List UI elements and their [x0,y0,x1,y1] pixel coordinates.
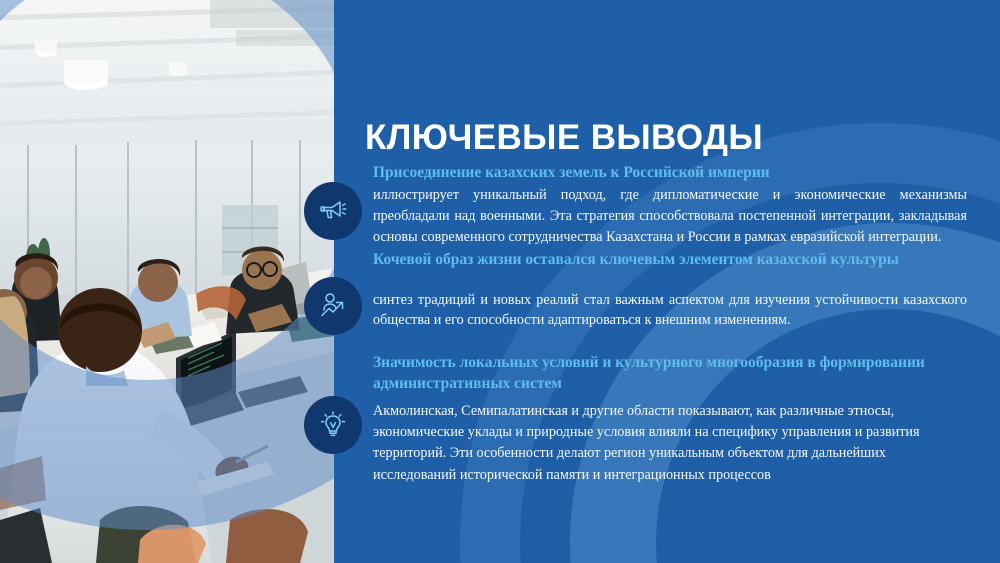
conclusion-block-1: Присоединение казахских земель к Российс… [373,163,967,248]
conclusion-body-2: синтез традиций и новых реалий стал важн… [373,290,967,332]
megaphone-icon [317,195,349,227]
meeting-photo [0,0,334,563]
conclusion-heading-1: Присоединение казахских земель к Российс… [373,163,967,183]
conclusion-heading-2: Кочевой образ жизни оставался ключевым э… [373,250,967,270]
growth-person-icon-badge [304,277,362,335]
conclusions-list: Присоединение казахских земель к Российс… [373,163,967,490]
conclusion-block-2: Кочевой образ жизни оставался ключевым э… [373,250,967,331]
lightbulb-icon [317,409,349,441]
page-title: КЛЮЧЕВЫЕ ВЫВОДЫ [365,120,763,157]
lightbulb-icon-badge [304,396,362,454]
conclusion-heading-3: Значимость локальных условий и культурно… [373,353,967,395]
photo-panel [0,0,334,563]
megaphone-icon-badge [304,182,362,240]
conclusion-block-3: Значимость локальных условий и культурно… [373,353,967,486]
conclusion-body-3: Акмолинская, Семипалатинская и другие об… [373,401,967,486]
growth-person-icon [317,290,349,322]
conclusion-body-1: иллюстрирует уникальный подход, где дипл… [373,185,967,248]
slide-root: КЛЮЧЕВЫЕ ВЫВОДЫ Присоединение казахских … [0,0,1000,563]
